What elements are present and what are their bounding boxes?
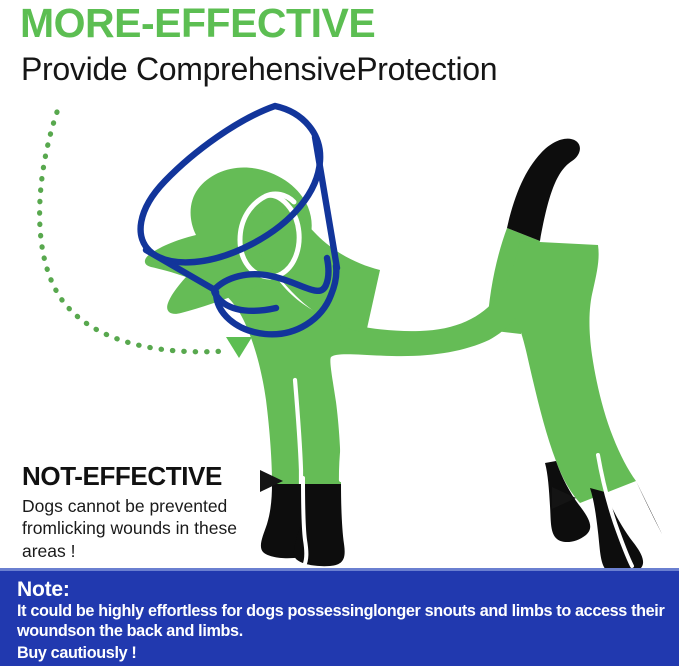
- not-effective-body: Dogs cannot be prevented fromlicking wou…: [22, 495, 254, 562]
- note-panel: Note: It could be highly effortless for …: [0, 571, 679, 666]
- note-cta: Buy cautiously !: [17, 643, 667, 664]
- arrow-head-icon: [226, 337, 252, 358]
- rear-paw-filler: [636, 481, 662, 534]
- infographic-page: MORE-EFFECTIVE Provide ComprehensiveProt…: [0, 0, 679, 666]
- note-body: It could be highly effortless for dogs p…: [17, 602, 677, 641]
- dog-cone-illustration: [0, 0, 679, 666]
- dog-tail-black-tip: [507, 139, 580, 241]
- not-effective-block: NOT-EFFECTIVE Dogs cannot be prevented f…: [22, 462, 272, 562]
- dog-front-leg-line: [341, 372, 372, 480]
- not-effective-title: NOT-EFFECTIVE: [22, 462, 272, 492]
- note-label: Note:: [17, 578, 667, 602]
